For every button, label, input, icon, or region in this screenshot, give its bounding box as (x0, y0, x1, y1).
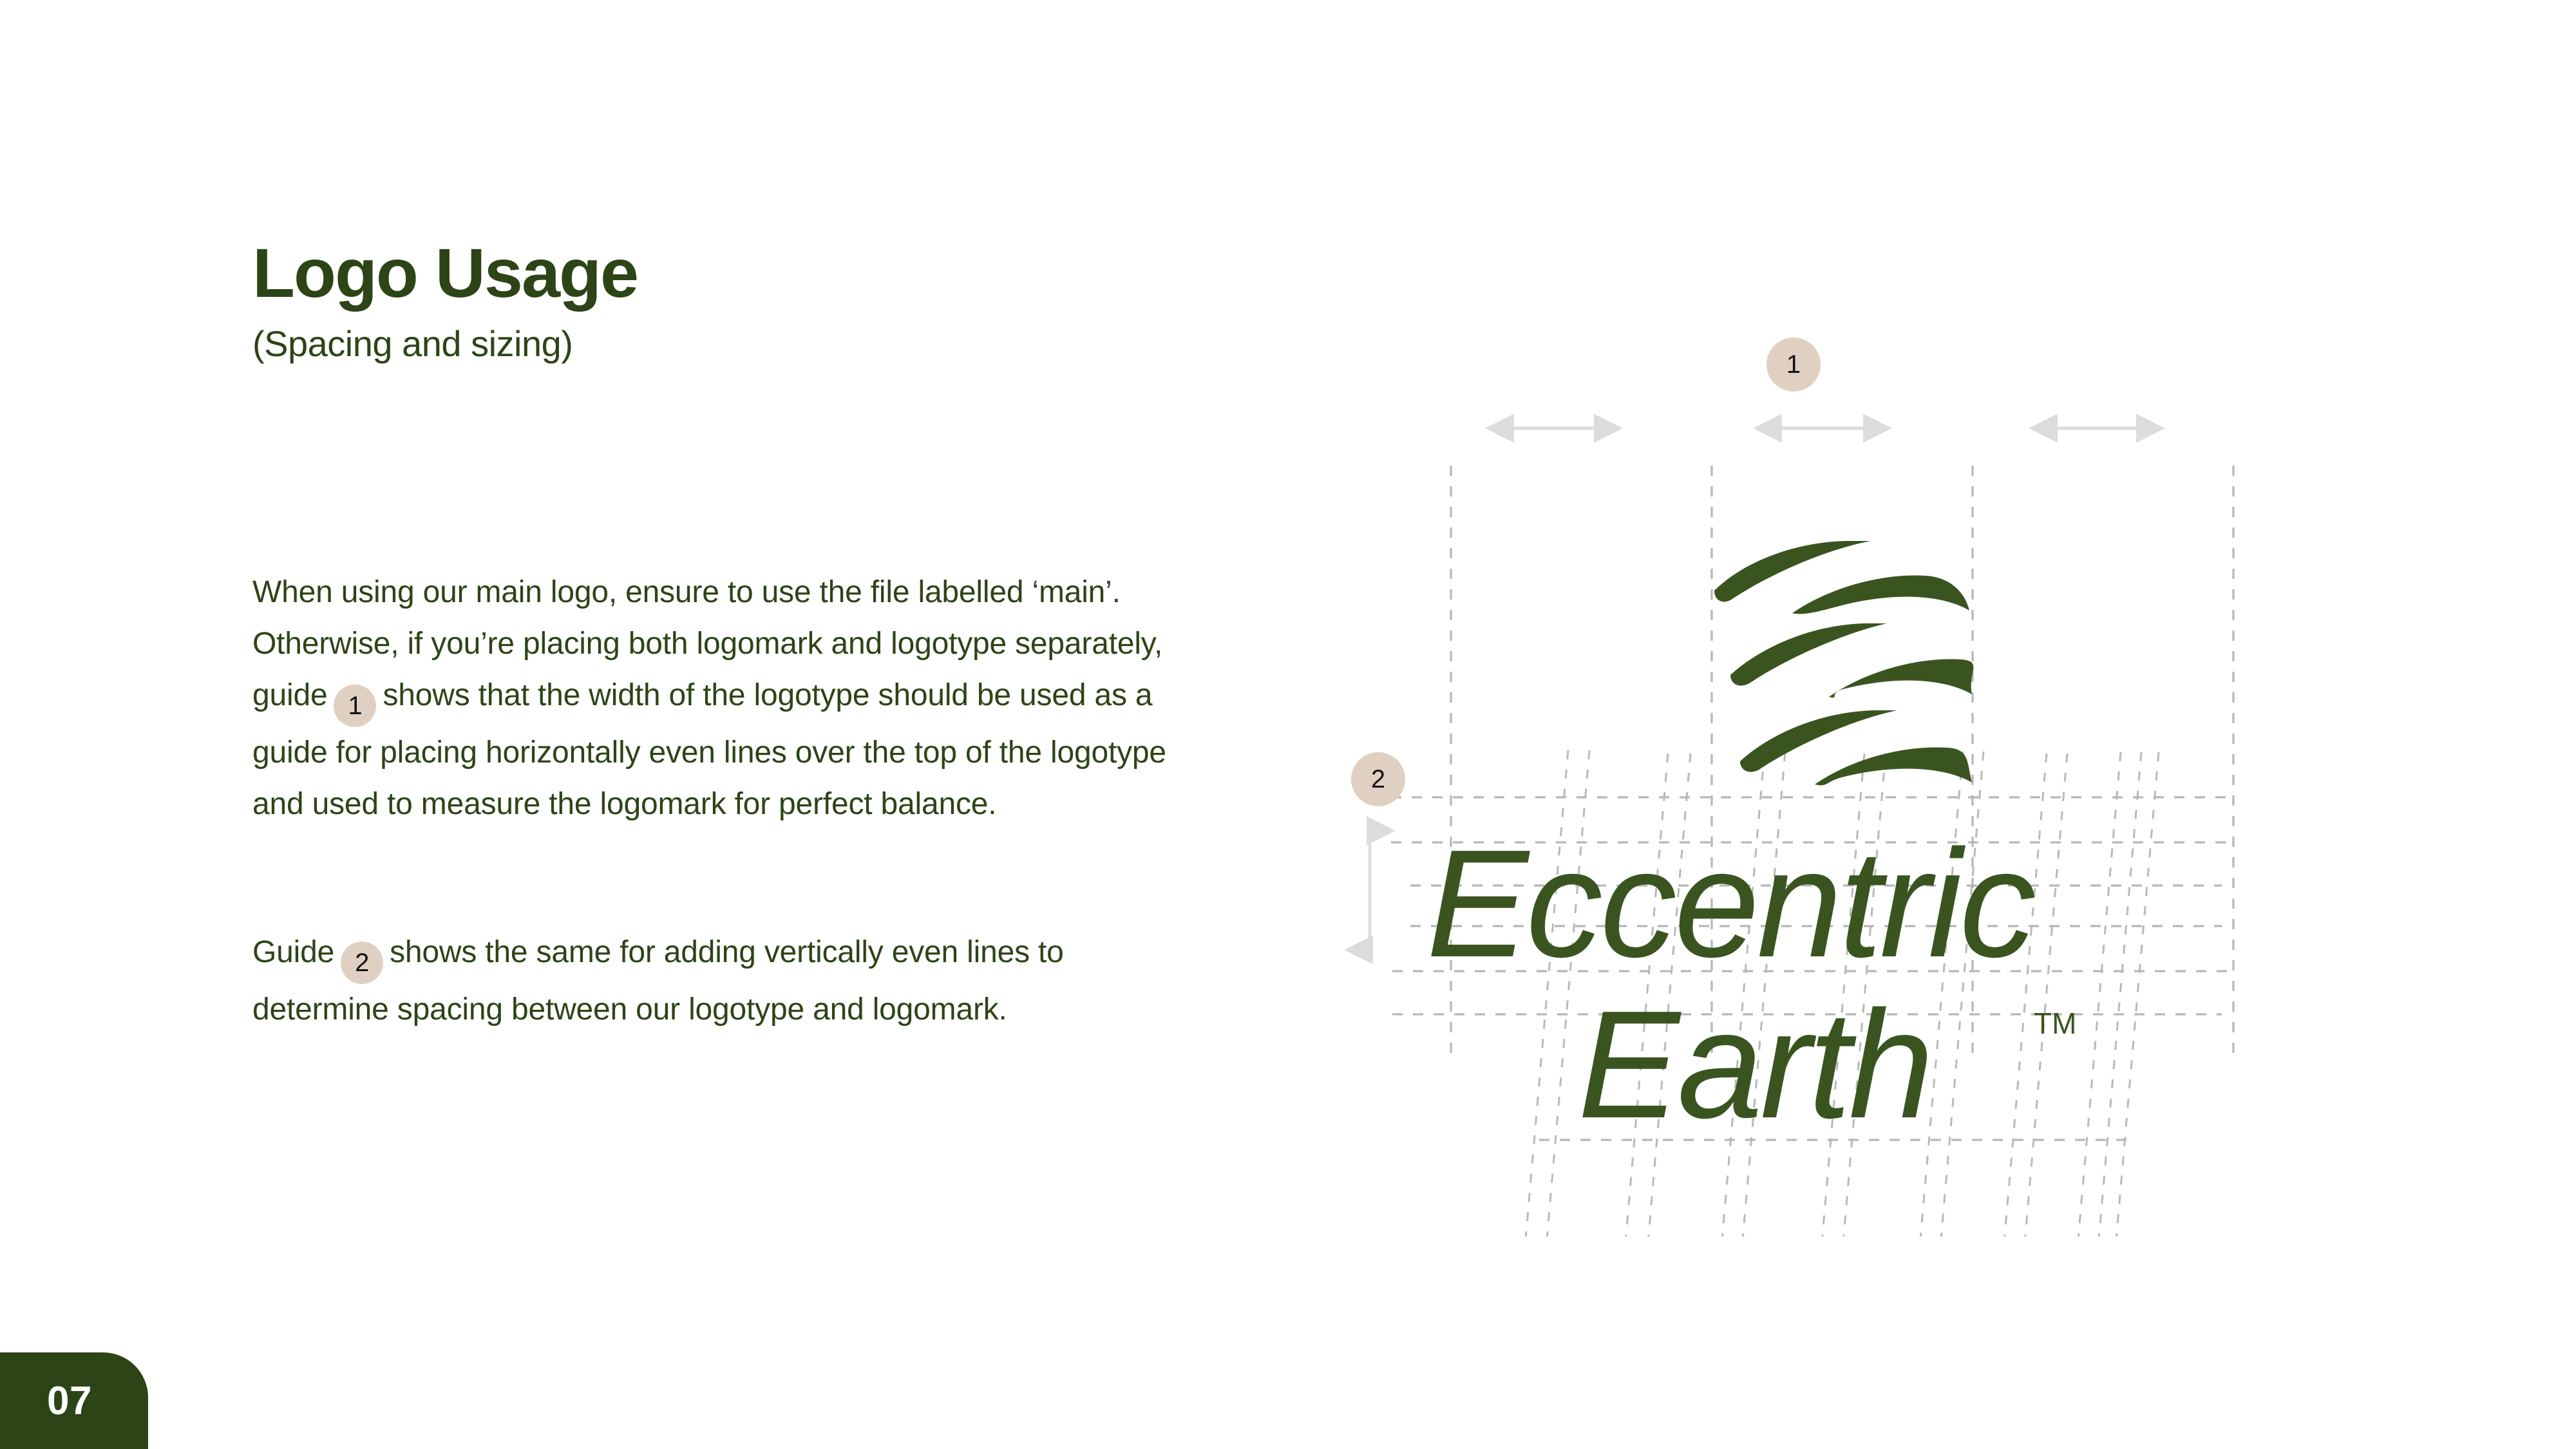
wordmark: Eccentric Earth TM (1426, 819, 2076, 1150)
wordmark-line-1: Eccentric (1426, 819, 2035, 989)
inline-guide-badge-1: 1 (334, 685, 376, 727)
guide-badge-1: 1 (1766, 337, 1821, 392)
slide-canvas: Logo Usage (Spacing and sizing) When usi… (0, 0, 2576, 1449)
logomark-waves (1714, 541, 1973, 785)
page-title: Logo Usage (252, 238, 1199, 308)
page-number-tab: 07 (0, 1352, 148, 1449)
paragraph-two-text-a: Guide (252, 935, 334, 969)
page-subtitle: (Spacing and sizing) (252, 326, 1199, 362)
inline-guide-badge-2: 2 (341, 942, 383, 984)
paragraph-one: When using our main logo, ensure to use … (252, 567, 1186, 830)
trademark-mark: TM (2034, 1007, 2076, 1040)
logo-construction-diagram: Eccentric Earth TM (1320, 303, 2254, 1236)
wordmark-line-2: Earth (1578, 980, 1931, 1150)
guide-badge-2: 2 (1351, 752, 1405, 806)
wave-2 (1792, 576, 1969, 614)
header-block: Logo Usage (Spacing and sizing) (252, 238, 1199, 362)
paragraph-two: Guide2shows the same for adding vertical… (252, 927, 1186, 1036)
wave-6 (1815, 748, 1972, 786)
paragraph-one-text-b: shows that the width of the logotype sho… (252, 678, 1166, 821)
page-number: 07 (47, 1378, 101, 1424)
logo-guide-panel: Eccentric Earth TM Eccentric Earth TM (1320, 303, 2254, 1236)
wave-4 (1829, 659, 1973, 698)
body-copy-block: When using our main logo, ensure to use … (252, 567, 1186, 1036)
guide-badge-1-label: 1 (1786, 350, 1801, 379)
guide-badge-2-label: 2 (1371, 765, 1385, 794)
wave-3 (1730, 623, 1887, 686)
